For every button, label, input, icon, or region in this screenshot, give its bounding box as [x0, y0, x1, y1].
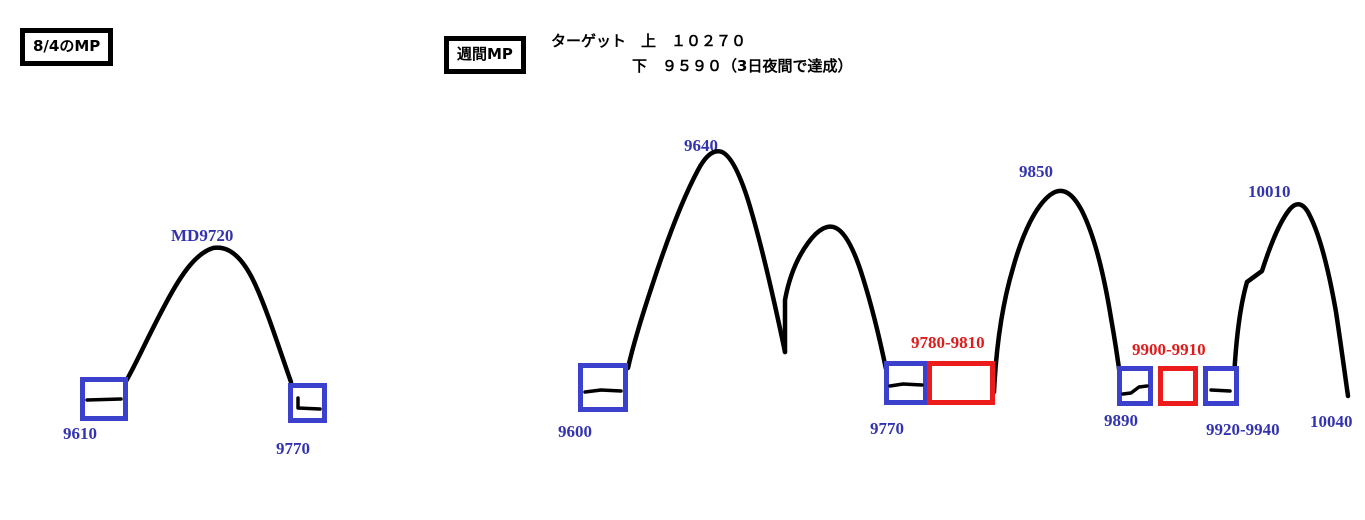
weekly-mp-box-9780-9810[interactable] — [927, 361, 995, 405]
weekly-mp-box-9920-9940[interactable] — [1203, 366, 1239, 406]
weekly-mp-label-9780-9810: 9780-9810 — [911, 334, 985, 351]
diagram-canvas: 8/4のMP MD9720 9610 9770 週間MP ターゲット 上 １０２… — [0, 0, 1365, 520]
box-mark-line — [889, 366, 923, 400]
weekly-mp-label-9890: 9890 — [1104, 412, 1138, 429]
weekly-mp-label-10040: 10040 — [1310, 413, 1353, 430]
weekly-mp-label-9900-9910: 9900-9910 — [1132, 341, 1206, 358]
weekly-mp-label-9600: 9600 — [558, 423, 592, 440]
weekly-mp-label-9920-9940: 9920-9940 — [1206, 421, 1280, 438]
weekly-mp-box-9600[interactable] — [578, 363, 628, 412]
box-mark-line — [583, 368, 623, 407]
box-mark-line-short — [1208, 371, 1234, 401]
weekly-mp-box-9770[interactable] — [884, 361, 928, 405]
weekly-mp-label-9770: 9770 — [870, 420, 904, 437]
weekly-mp-box-9900-9910[interactable] — [1158, 366, 1198, 406]
box-mark-slope — [1122, 371, 1148, 401]
weekly-mp-box-9890[interactable] — [1117, 366, 1153, 406]
